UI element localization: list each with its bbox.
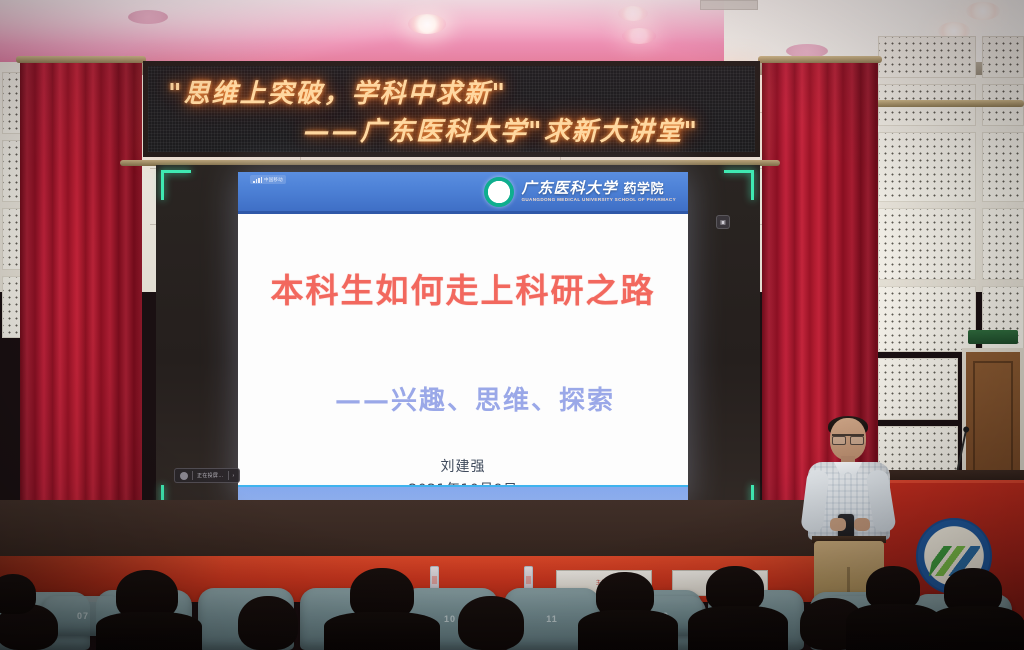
ceiling-downlight	[622, 28, 656, 44]
presentation-slide: 中国移动 广东医科大学 药学院 GUANGDONG MEDICAL UNIVER…	[238, 172, 688, 504]
cast-status-label: 正在投屏…	[197, 472, 224, 479]
exit-sign	[968, 330, 1018, 344]
cast-control-chip[interactable]: 正在投屏… ›	[174, 468, 240, 483]
audience-head	[458, 596, 524, 650]
ceiling-vent	[700, 0, 758, 10]
audience-shoulders	[324, 612, 440, 650]
audience-head	[238, 596, 298, 650]
presenter-hand-left	[830, 518, 846, 531]
slide-header-band: 中国移动 广东医科大学 药学院 GUANGDONG MEDICAL UNIVER…	[238, 172, 688, 214]
audience-head	[0, 574, 36, 614]
divider	[192, 471, 193, 480]
slide-body: 本科生如何走上科研之路 ——兴趣、思维、探索 刘建强 2021年10月9日	[238, 214, 688, 501]
slide-footer-band	[238, 485, 688, 501]
cast-icon	[180, 472, 188, 480]
curtain-rod-right	[758, 56, 882, 63]
ceiling-downlight	[966, 2, 1000, 20]
curtain-rod-left	[16, 56, 146, 63]
audience-shoulders	[928, 606, 1024, 650]
glasses-icon	[832, 434, 864, 441]
led-banner-line-2: ——广东医科大学"求新大讲堂"	[148, 111, 755, 148]
slide-subtitle: ——兴趣、思维、探索	[238, 380, 688, 417]
signal-bars-icon	[253, 177, 262, 183]
lecture-hall-scene: "思维上突破，学科中求新" ——广东医科大学"求新大讲堂" 中国移动 广东医科大…	[0, 0, 1024, 650]
chevron-right-icon[interactable]: ›	[233, 473, 235, 479]
divider	[228, 471, 229, 480]
presenter-hand-right	[854, 518, 870, 531]
window-icon[interactable]: ▣	[716, 215, 730, 229]
side-curtain-rod	[876, 100, 1024, 107]
status-bar-indicator: 中国移动	[250, 175, 286, 184]
university-name-en: GUANGDONG MEDICAL UNIVERSITY SCHOOL OF P…	[521, 198, 676, 203]
slide-header-logotype: 广东医科大学 药学院 GUANGDONG MEDICAL UNIVERSITY …	[521, 181, 676, 203]
ceiling-downlight	[408, 14, 446, 34]
ceiling-downlight	[618, 6, 648, 21]
audience-shoulders	[688, 606, 788, 650]
ceiling-speaker-grille	[128, 10, 168, 24]
university-name-cn: 广东医科大学	[521, 181, 617, 196]
stage-curtain-left	[20, 58, 142, 558]
led-screen: "思维上突破，学科中求新" ——广东医科大学"求新大讲堂"	[148, 66, 755, 152]
carrier-label: 中国移动	[264, 177, 283, 183]
slide-author: 刘建强	[238, 456, 688, 476]
led-banner-line-1: "思维上突破，学科中求新"	[168, 73, 755, 110]
slide-title: 本科生如何走上科研之路	[238, 264, 688, 312]
led-banner: "思维上突破，学科中求新" ——广东医科大学"求新大讲堂"	[143, 61, 760, 157]
school-name-cn: 药学院	[623, 183, 664, 196]
university-crest-icon	[484, 177, 514, 207]
audience-shoulders	[578, 610, 678, 650]
audience-shoulders	[96, 612, 202, 650]
